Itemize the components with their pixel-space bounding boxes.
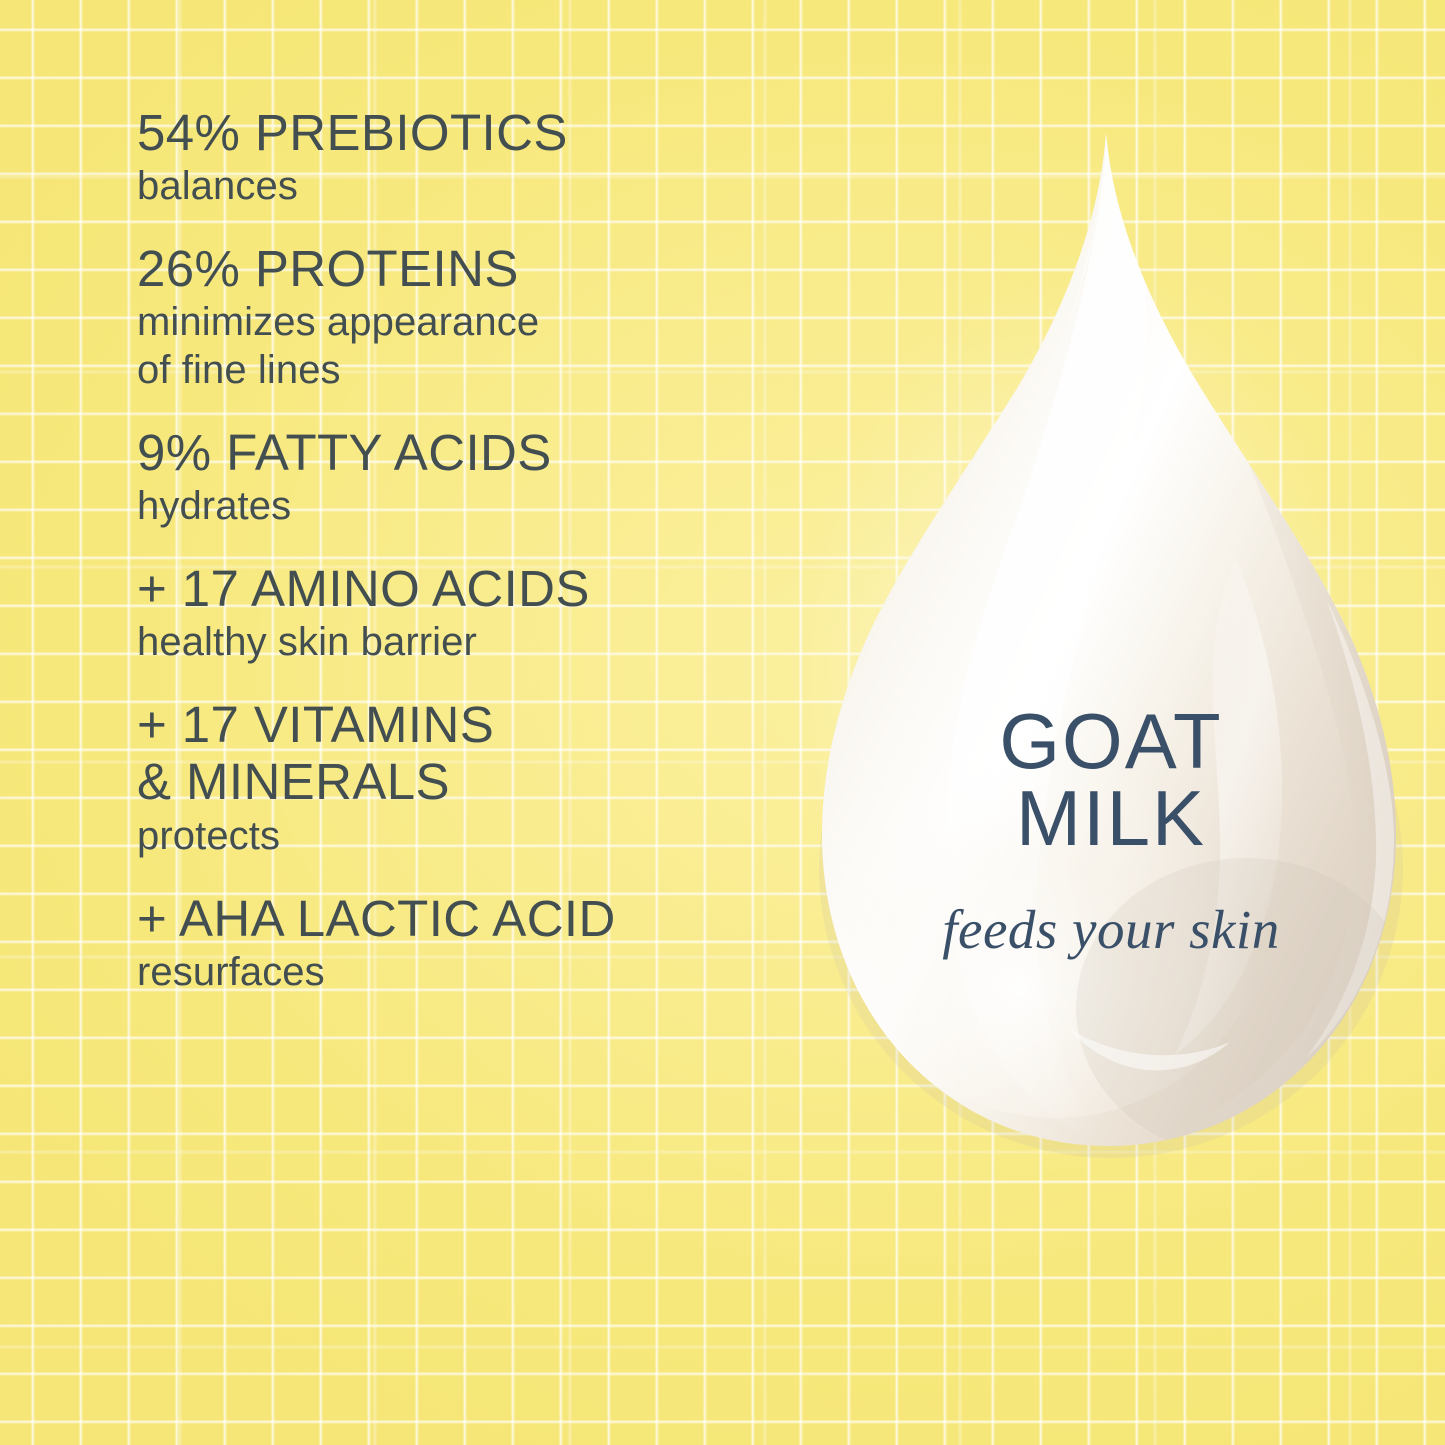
ingredient-benefit: hydrates — [137, 483, 837, 530]
milk-droplet: GOAT MILK feeds your skin — [806, 128, 1416, 1173]
ingredient-item-vitamins-minerals: + 17 VITAMINS & MINERALS protects — [137, 696, 837, 859]
ingredient-benefit: resurfaces — [137, 949, 837, 996]
ingredient-item-proteins: 26% PROTEINS minimizes appearance of fin… — [137, 240, 837, 393]
ingredient-item-fatty-acids: 9% FATTY ACIDS hydrates — [137, 424, 837, 530]
ingredient-benefit: healthy skin barrier — [137, 619, 837, 666]
ingredient-headline: 26% PROTEINS — [137, 240, 837, 297]
ingredient-benefit: balances — [137, 163, 837, 210]
ingredient-list: 54% PREBIOTICS balances 26% PROTEINS min… — [137, 104, 837, 996]
milk-droplet-icon — [806, 128, 1416, 1173]
ingredient-item-aha-lactic-acid: + AHA LACTIC ACID resurfaces — [137, 890, 837, 996]
ingredient-benefit: protects — [137, 813, 837, 860]
ingredient-headline: 9% FATTY ACIDS — [137, 424, 837, 481]
ingredient-headline: + 17 VITAMINS & MINERALS — [137, 696, 837, 810]
goat-milk-ingredient-infographic: 54% PREBIOTICS balances 26% PROTEINS min… — [0, 0, 1445, 1445]
ingredient-item-prebiotics: 54% PREBIOTICS balances — [137, 104, 837, 210]
ingredient-item-amino-acids: + 17 AMINO ACIDS healthy skin barrier — [137, 560, 837, 666]
ingredient-headline: 54% PREBIOTICS — [137, 104, 837, 161]
ingredient-benefit: minimizes appearance of fine lines — [137, 299, 837, 393]
ingredient-headline: + AHA LACTIC ACID — [137, 890, 837, 947]
ingredient-headline: + 17 AMINO ACIDS — [137, 560, 837, 617]
